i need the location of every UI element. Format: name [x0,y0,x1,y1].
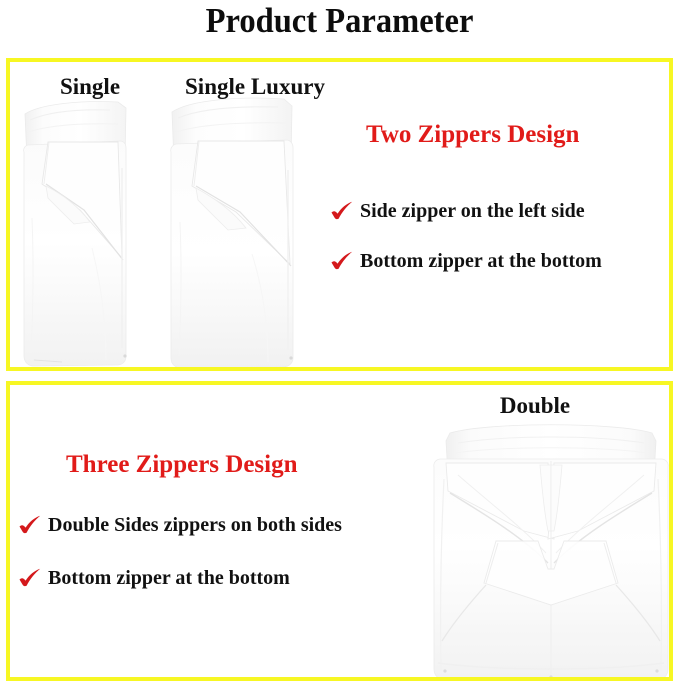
bullet-item: Double Sides zippers on both sides [18,513,342,537]
bullet-text: Side zipper on the left side [360,199,585,223]
bullet-text: Bottom zipper at the bottom [48,566,290,590]
bed-sheet-single-luxury-icon [168,94,320,371]
product-label-double: Double [410,393,660,419]
bullet-item: Bottom zipper at the bottom [18,566,290,590]
panel-heading-three-zippers: Three Zippers Design [66,450,298,480]
red-check-icon [18,568,42,590]
bullet-text: Bottom zipper at the bottom [360,249,602,273]
red-check-icon [18,515,42,537]
bullet-item: Bottom zipper at the bottom [330,249,602,273]
panel-heading-two-zippers: Two Zippers Design [366,120,579,150]
three-zippers-panel: Double Three Zippers Design Double Sides… [6,381,673,681]
bed-sheet-single-icon [22,98,156,370]
page-title: Product Parameter [24,0,655,43]
bullet-text: Double Sides zippers on both sides [48,513,342,537]
red-check-icon [330,201,354,223]
bed-sheet-double-icon [428,419,673,681]
product-label-single: Single [20,74,160,100]
red-check-icon [330,251,354,273]
two-zippers-panel: Single Single Luxury [6,58,673,371]
bullet-item: Side zipper on the left side [330,199,585,223]
